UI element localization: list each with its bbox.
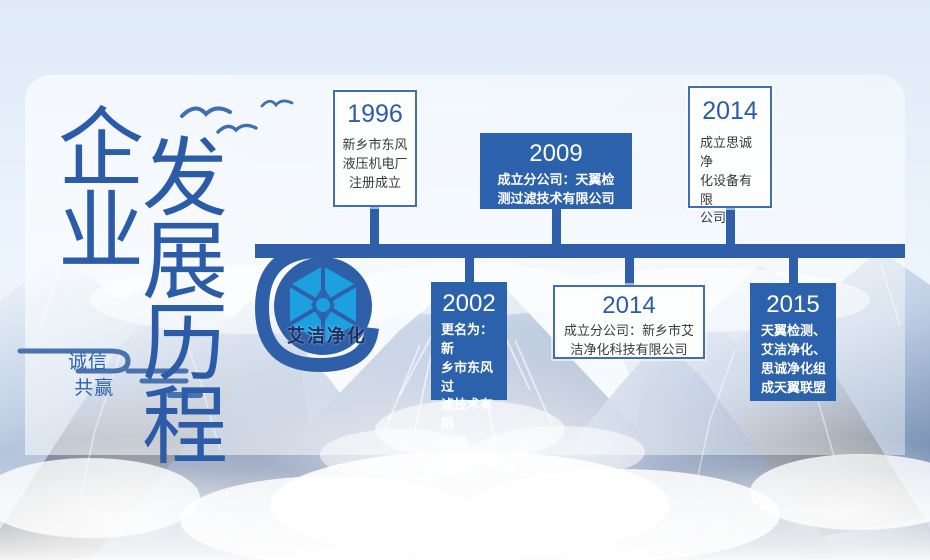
connector-stem-1996	[370, 205, 379, 247]
timeline-card-description: 成立分公司：天翼检 测过滤技术有限公司	[490, 171, 622, 209]
timeline-card-year: 2014	[696, 99, 764, 124]
logo-wordmark: 艾洁净化	[272, 322, 382, 348]
banner-stage: 企 业 发 展 历 程 诚信 共赢 1996 新乡市东风 液压机电厂 注册成立 …	[0, 0, 930, 560]
timeline-card-2014-sicheng[interactable]: 2014 成立思诚净 化设备有限 公司	[688, 86, 772, 208]
timeline-card-description: 天翼检测、 艾洁净化、 思诚净化组 成天翼联盟	[757, 322, 829, 397]
timeline-card-year: 2009	[490, 142, 622, 166]
timeline-card-2015[interactable]: 2015 天翼检测、 艾洁净化、 思诚净化组 成天翼联盟	[750, 283, 836, 401]
connector-stem-2015	[789, 255, 798, 286]
connector-stem-2002	[465, 255, 474, 285]
timeline-card-2009[interactable]: 2009 成立分公司：天翼检 测过滤技术有限公司	[480, 133, 632, 209]
timeline-card-year: 2015	[757, 293, 829, 317]
timeline-card-description: 新乡市东风 液压机电厂 注册成立	[341, 136, 409, 193]
timeline-card-year: 1996	[341, 102, 409, 127]
title-subtitle: 诚信 共赢	[68, 350, 114, 401]
timeline-card-2002[interactable]: 2002 更名为：新 乡市东风过 滤技术有限 公司	[431, 282, 507, 400]
timeline-card-description: 成立分公司：新乡市艾 洁净化科技有限公司	[563, 322, 695, 360]
timeline-card-description: 更名为：新 乡市东风过 滤技术有限 公司	[438, 321, 500, 453]
title-line-2: 发 展 历 程	[142, 138, 228, 468]
title-line-1: 企 业	[58, 108, 144, 273]
timeline-card-description: 成立思诚净 化设备有限 公司	[696, 134, 764, 228]
timeline-card-1996[interactable]: 1996 新乡市东风 液压机电厂 注册成立	[333, 90, 417, 207]
timeline-card-year: 2002	[438, 292, 500, 316]
connector-stem-2014b	[625, 255, 634, 288]
timeline-card-year: 2014	[563, 294, 695, 318]
connector-stem-2009	[552, 207, 561, 247]
company-logo[interactable]	[243, 248, 403, 380]
timeline-card-2014-aijie[interactable]: 2014 成立分公司：新乡市艾 洁净化科技有限公司	[553, 285, 705, 359]
